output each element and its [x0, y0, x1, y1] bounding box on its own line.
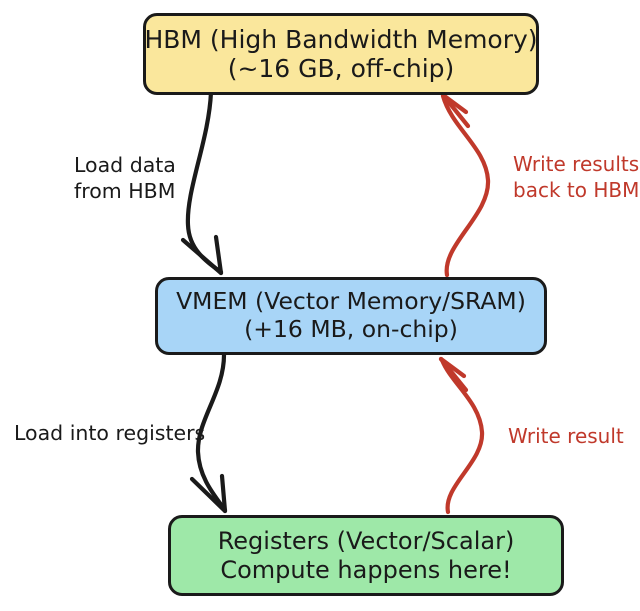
node-vmem-line1: VMEM (Vector Memory/SRAM) [176, 288, 526, 316]
node-hbm[interactable]: HBM (High Bandwidth Memory) (~16 GB, off… [143, 13, 539, 95]
node-registers-line2: Compute happens here! [220, 556, 511, 584]
node-hbm-line2: (~16 GB, off-chip) [228, 54, 455, 84]
edge-label-write-results-back-to-hbm-line2: back to HBM [513, 178, 639, 204]
arrow-write-result [441, 359, 482, 512]
node-vmem-line2: (+16 MB, on-chip) [244, 316, 458, 344]
edge-label-write-result: Write result [508, 424, 624, 450]
edge-label-write-results-back-to-hbm-line1: Write results [513, 152, 639, 178]
edge-label-load-data-from-hbm-line1: Load data [74, 152, 176, 178]
node-registers[interactable]: Registers (Vector/Scalar) Compute happen… [168, 515, 564, 596]
edge-label-load-into-registers: Load into registers [14, 420, 205, 446]
edge-label-write-results-back-to-hbm: Write results back to HBM [513, 152, 639, 203]
arrow-write-results-back-to-hbm [443, 95, 488, 275]
arrow-load-data-from-hbm [183, 92, 221, 273]
edge-label-load-into-registers-line1: Load into registers [14, 420, 205, 446]
edge-label-load-data-from-hbm-line2: from HBM [74, 178, 176, 204]
node-registers-line1: Registers (Vector/Scalar) [218, 527, 515, 555]
node-hbm-line1: HBM (High Bandwidth Memory) [144, 25, 537, 55]
edge-label-write-result-line1: Write result [508, 424, 624, 450]
diagram-canvas: HBM (High Bandwidth Memory) (~16 GB, off… [0, 0, 640, 611]
node-vmem[interactable]: VMEM (Vector Memory/SRAM) (+16 MB, on-ch… [155, 277, 547, 355]
edge-label-load-data-from-hbm: Load data from HBM [74, 152, 176, 204]
